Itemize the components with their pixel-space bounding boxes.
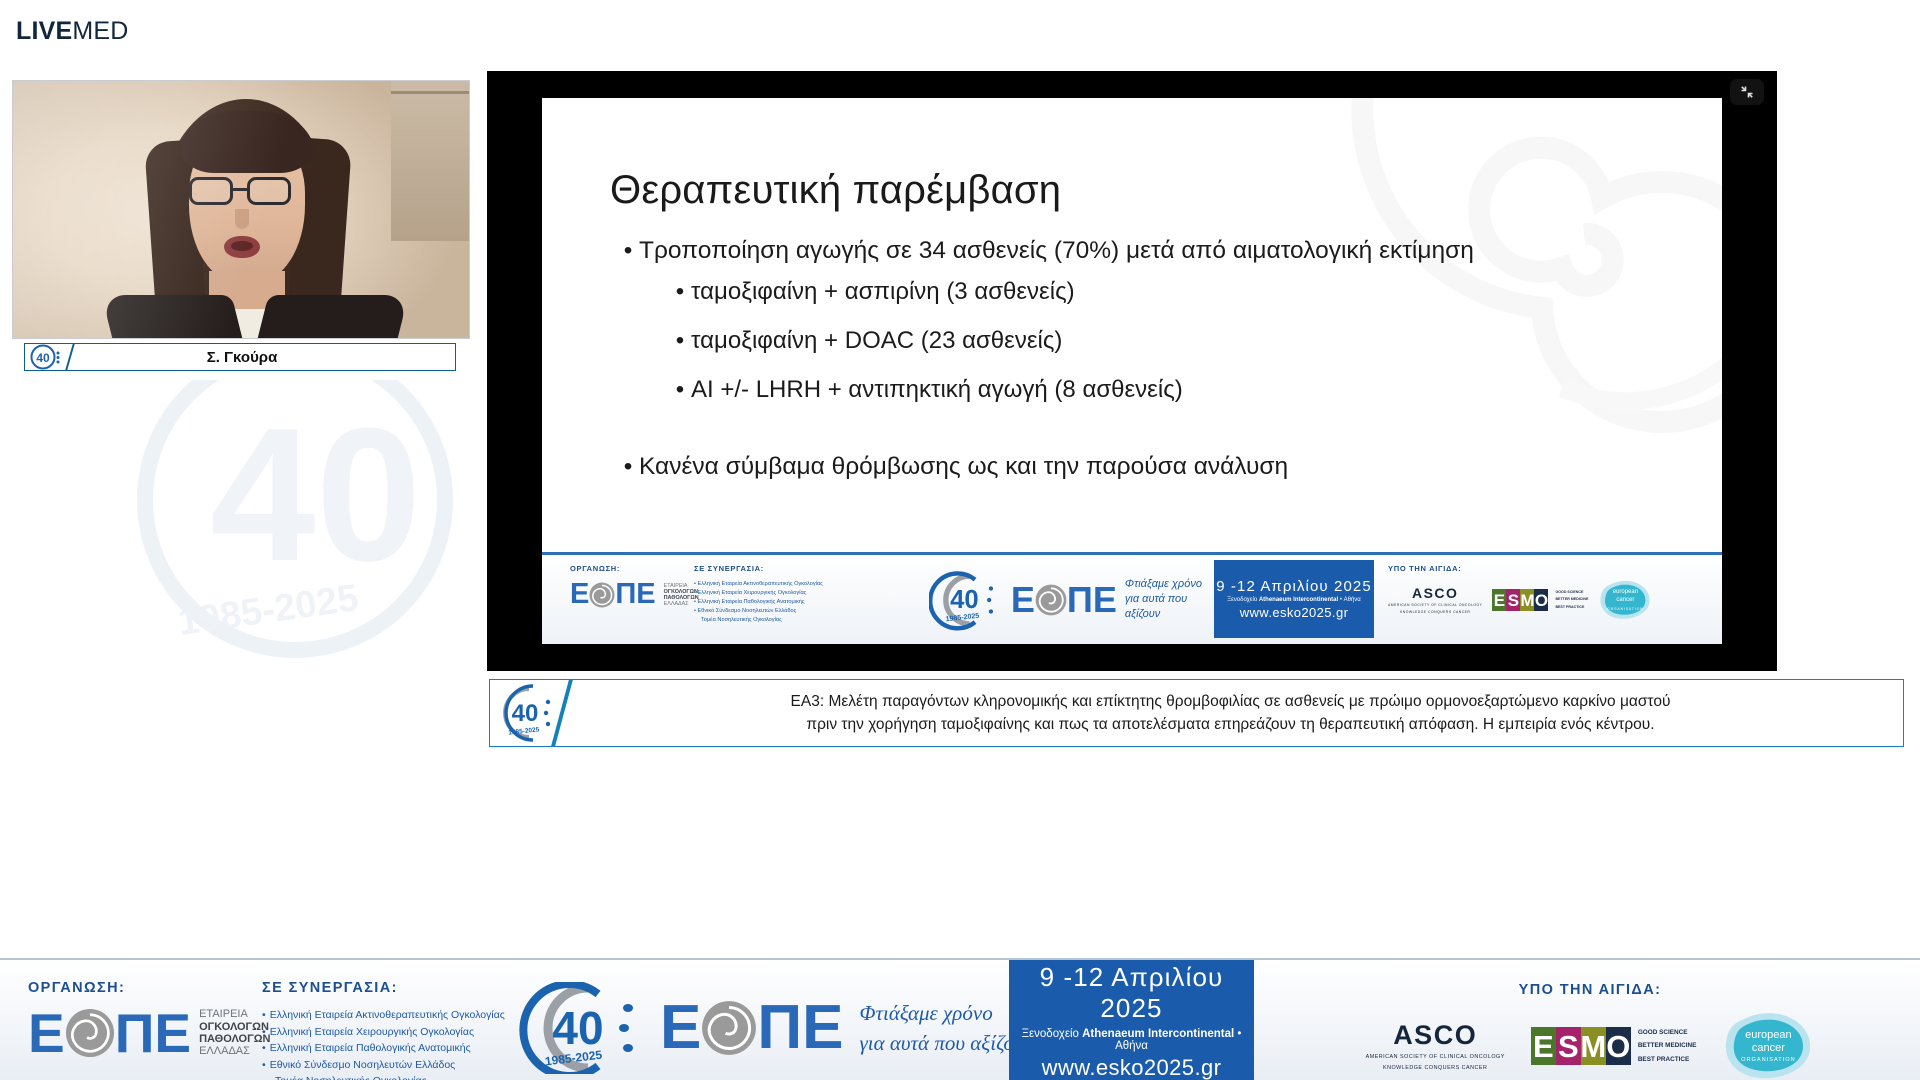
slide-footer-anniversary: 40 1985-2025 E ΠΕ bbox=[929, 555, 1214, 644]
collaborator-item: •Ελληνική Εταιρεία Ακτινοθεραπευτικής Ογ… bbox=[262, 1007, 505, 1024]
auspices-label: ΥΠΟ ΤΗΝ ΑΙΓΙΔΑ: bbox=[1388, 564, 1722, 573]
bullet-text: Κανένα σύμβαμα θρόμβωσης ως και την παρο… bbox=[639, 451, 1288, 483]
ec-line-2: cancer bbox=[1752, 1042, 1785, 1055]
collaboration-label: ΣΕ ΣΥΝΕΡΓΑΣΙΑ: bbox=[262, 980, 505, 996]
session-title-line-1: ΕΑ3: Μελέτη παραγόντων κληρονομικής και … bbox=[588, 690, 1873, 713]
ec-line-3: ORGANISATION bbox=[1607, 607, 1643, 611]
slide-bullet: • Τροποποίηση αγωγής σε 34 ασθενείς (70%… bbox=[564, 235, 1702, 267]
bullet-dot-icon: • bbox=[617, 235, 639, 267]
bottom-sponsor-banner: ΟΡΓΑΝΩΣΗ: E ΠΕ ΕΤΑΙΡΕΙΑ ΟΓΚΟΛΟΓΩΝ ΠΑΘΟΛΟ… bbox=[0, 958, 1920, 1080]
esmo-mark: E S M O bbox=[1492, 589, 1548, 611]
bottom-auspices-block: ΥΠΟ ΤΗΝ ΑΙΓΙΔΑ: ASCO AMERICAN SOCIETY OF… bbox=[1268, 982, 1912, 1080]
collaborator-item: •Ελληνική Εταιρεία Παθολογικής Ανατομική… bbox=[262, 1040, 505, 1057]
collaborator-item: • Ελληνική Εταιρεία Ακτινοθεραπευτικής Ο… bbox=[694, 580, 929, 589]
slide-bullet: • Κανένα σύμβαμα θρόμβωσης ως και την πα… bbox=[564, 451, 1702, 483]
session-title-text: ΕΑ3: Μελέτη παραγόντων κληρονομικής και … bbox=[562, 690, 1903, 737]
eope-word: ΕΛΛΑΔΑΣ bbox=[199, 1045, 270, 1057]
slide-player[interactable]: Θεραπευτική παρέμβαση • Τροποποίηση αγωγ… bbox=[487, 71, 1777, 671]
event-website: www.esko2025.gr bbox=[1214, 605, 1374, 620]
esmo-letter: M bbox=[1581, 1027, 1606, 1065]
collaborator-item: Τομέα Νοσηλευτικής Ογκολογίας bbox=[262, 1073, 505, 1080]
ec-line-1: european bbox=[1745, 1029, 1792, 1042]
eope-spiral-icon bbox=[589, 582, 615, 608]
eope-letters-pe: ΠΕ bbox=[1067, 584, 1117, 616]
eope-letter-e: E bbox=[570, 582, 589, 608]
slide-footer-banner: ΟΡΓΑΝΩΣΗ: E ΠΕ ΕΤΑΙΡΕΙΑ ΟΓΚΟΛΟ bbox=[542, 552, 1722, 644]
bullet-text: ταμοξιφαίνη + DOAC (23 ασθενείς) bbox=[691, 325, 1062, 357]
esmo-letter: S bbox=[1556, 1027, 1581, 1065]
bottom-organisation-block: ΟΡΓΑΝΩΣΗ: E ΠΕ ΕΤΑΙΡΕΙΑ ΟΓΚΟΛΟΓΩΝ ΠΑΘΟΛΟ… bbox=[28, 980, 270, 1058]
livemed-logo: LIVEMED bbox=[16, 17, 129, 46]
slide-bullet-list: • Τροποποίηση αγωγής σε 34 ασθενείς (70%… bbox=[564, 235, 1702, 493]
logo-med-text: MED bbox=[72, 17, 128, 46]
esmo-tagline-2: BETTER MEDICINE bbox=[1638, 1039, 1697, 1052]
collaborator-item: •Εθνικό Σύνδεσμο Νοσηλευτών Ελλάδος bbox=[262, 1057, 505, 1074]
eope-spiral-icon bbox=[701, 1000, 757, 1056]
badge-number-text: 40 bbox=[512, 700, 539, 727]
eope-word: ΠΑΘΟΛΟΓΩΝ bbox=[199, 1033, 270, 1045]
asco-tagline-2: KNOWLEDGE CONQUERS CANCER bbox=[1388, 610, 1482, 615]
esmo-logo: E S M O GOOD SCIENCE BETTER MEDICINE BES… bbox=[1531, 1026, 1697, 1065]
slogan-line-2: για αυτά που αξίζουν bbox=[1125, 592, 1214, 622]
livemed-webcast-page: LIVEMED 40 1985-2025 bbox=[0, 0, 1920, 1080]
ec-line-1: european bbox=[1613, 589, 1638, 596]
esmo-tagline-3: BEST PRACTICE bbox=[1638, 1053, 1697, 1066]
speaker-video[interactable] bbox=[12, 80, 470, 339]
anniversary-number: 40 bbox=[552, 1002, 603, 1054]
eope-logo-bottom: E ΠΕ bbox=[660, 1000, 844, 1056]
collaborator-item: •Ελληνική Εταιρεία Χειρουργικής Ογκολογί… bbox=[262, 1024, 505, 1041]
collaborator-item: Τομέα Νοσηλευτικής Ογκολογίας bbox=[694, 616, 929, 625]
esmo-tagline-1: GOOD SCIENCE bbox=[1555, 589, 1588, 596]
bullet-text: Τροποποίηση αγωγής σε 34 ασθενείς (70%) … bbox=[639, 235, 1474, 267]
european-cancer-logo: european cancer ORGANISATION bbox=[1722, 1010, 1814, 1080]
bottom-anniversary-block: 40 1985-2025 E ΠΕ Φτιάξαμε χρόνο για αυτ… bbox=[502, 982, 1033, 1074]
asco-logo: ASCO AMERICAN SOCIETY OF CLINICAL ONCOLO… bbox=[1388, 585, 1482, 616]
slide-footer-collaboration: ΣΕ ΣΥΝΕΡΓΑΣΙΑ: • Ελληνική Εταιρεία Ακτιν… bbox=[694, 555, 929, 644]
eope-logo-footer: E ΠΕ bbox=[1011, 584, 1117, 616]
eope-letter-e: E bbox=[660, 1001, 701, 1056]
svg-text:1985-2025: 1985-2025 bbox=[175, 577, 361, 644]
bottom-date-box: 9 -12 Απριλίου 2025 Ξενοδοχείο Athenaeum… bbox=[1009, 960, 1254, 1080]
bullet-text: AI +/- LHRH + αντιπηκτική αγωγή (8 ασθεν… bbox=[691, 374, 1183, 406]
bullet-dot-icon: • bbox=[617, 451, 639, 483]
minimize-arrows-icon[interactable] bbox=[1730, 79, 1764, 105]
european-cancer-text: european cancer ORGANISATION bbox=[1598, 579, 1652, 621]
session-title-bar: 40 1985-2025 ΕΑ3: Μελέτη παραγόντων κληρ… bbox=[489, 679, 1904, 747]
slide-bullet: • AI +/- LHRH + αντιπηκτική αγωγή (8 ασθ… bbox=[564, 374, 1702, 406]
asco-name: ASCO bbox=[1366, 1020, 1505, 1051]
eope-spiral-icon bbox=[1035, 584, 1067, 616]
event-website: www.esko2025.gr bbox=[1009, 1055, 1254, 1080]
eope-letter-e: E bbox=[1011, 584, 1035, 616]
collaboration-label: ΣΕ ΣΥΝΕΡΓΑΣΙΑ: bbox=[694, 564, 929, 573]
speaker-name: Σ. Γκούρα bbox=[69, 349, 455, 366]
badge-number-text: 40 bbox=[36, 351, 50, 365]
anniversary-badge-icon: 40 bbox=[25, 344, 69, 370]
esmo-letter: M bbox=[1520, 589, 1534, 611]
eope-logo: E ΠΕ ΕΤΑΙΡΕΙΑ ΟΓΚΟΛΟΓΩΝ ΠΑΘΟΛΟΓΩΝ ΕΛΛΑΔΑ… bbox=[28, 1008, 270, 1058]
eope-word: ΟΓΚΟΛΟΓΩΝ bbox=[199, 1021, 270, 1033]
european-cancer-text: european cancer ORGANISATION bbox=[1722, 1010, 1814, 1080]
anniversary-40-logo-icon: 40 1985-2025 bbox=[502, 982, 672, 1074]
esmo-letter: E bbox=[1492, 589, 1506, 611]
event-dates: 9 -12 Απριλίου 2025 bbox=[1009, 962, 1254, 1024]
bullet-dot-icon: • bbox=[669, 276, 691, 308]
esmo-logo: E S M O GOOD SCIENCE BETTER MEDICINE BES… bbox=[1492, 589, 1588, 611]
european-cancer-logo: european cancer ORGANISATION bbox=[1598, 579, 1652, 621]
slogan-line-1: Φτιάξαμε χρόνο bbox=[1125, 577, 1214, 592]
esmo-letter: O bbox=[1606, 1027, 1631, 1065]
auspices-label: ΥΠΟ ΤΗΝ ΑΙΓΙΔΑ: bbox=[1268, 982, 1912, 998]
asco-name: ASCO bbox=[1388, 585, 1482, 601]
esmo-taglines: GOOD SCIENCE BETTER MEDICINE BEST PRACTI… bbox=[1638, 1026, 1697, 1065]
anniversary-number: 40 bbox=[950, 585, 979, 613]
asco-tagline-2: KNOWLEDGE CONQUERS CANCER bbox=[1366, 1064, 1505, 1073]
eope-letters-pe: ΠΕ bbox=[115, 1009, 191, 1057]
esmo-letter: E bbox=[1531, 1027, 1556, 1065]
logo-live-text: LIVE bbox=[16, 17, 72, 46]
bullet-text: ταμοξιφαίνη + ασπιρίνη (3 ασθενείς) bbox=[691, 276, 1075, 308]
event-dates: 9 -12 Απριλίου 2025 bbox=[1214, 578, 1374, 595]
eope-letters-pe: ΠΕ bbox=[757, 1001, 843, 1056]
esmo-letter: O bbox=[1534, 589, 1548, 611]
eope-mark: E ΠΕ bbox=[570, 582, 656, 608]
eope-letter-e: E bbox=[28, 1009, 65, 1057]
asco-logo: ASCO AMERICAN SOCIETY OF CLINICAL ONCOLO… bbox=[1366, 1020, 1505, 1072]
ec-line-2: cancer bbox=[1616, 597, 1634, 604]
slide-bullet: • ταμοξιφαίνη + ασπιρίνη (3 ασθενείς) bbox=[564, 276, 1702, 308]
asco-tagline-1: AMERICAN SOCIETY OF CLINICAL ONCOLOGY bbox=[1388, 603, 1482, 608]
eope-spiral-icon bbox=[65, 1008, 115, 1058]
background-watermark-40: 40 1985-2025 bbox=[60, 380, 530, 680]
slogan-line-1: Φτιάξαμε χρόνο bbox=[860, 998, 1033, 1028]
eope-letters-pe: ΠΕ bbox=[615, 582, 655, 608]
collaborator-item: • Ελληνική Εταιρεία Παθολογικής Ανατομικ… bbox=[694, 598, 929, 607]
bullet-dot-icon: • bbox=[669, 325, 691, 357]
organisation-label: ΟΡΓΑΝΩΣΗ: bbox=[28, 980, 270, 996]
slogan-line-2: για αυτά που αξίζουν bbox=[860, 1028, 1033, 1058]
esmo-tagline-2: BETTER MEDICINE bbox=[1555, 596, 1588, 603]
anniversary-40-logo-icon: 40 1985-2025 bbox=[929, 569, 1007, 631]
presentation-slide: Θεραπευτική παρέμβαση • Τροποποίηση αγωγ… bbox=[542, 98, 1722, 644]
slide-title: Θεραπευτική παρέμβαση bbox=[610, 168, 1061, 213]
esmo-mark: E S M O bbox=[1531, 1027, 1631, 1065]
slide-footer-auspices: ΥΠΟ ΤΗΝ ΑΙΓΙΔΑ: ASCO AMERICAN SOCIETY OF… bbox=[1374, 555, 1722, 644]
slide-footer-date-box: 9 -12 Απριλίου 2025 Ξενοδοχείο Athenaeum… bbox=[1214, 560, 1374, 638]
session-title-line-2: πριν την χορήγηση ταμοξιφαίνης και πως τ… bbox=[588, 713, 1873, 736]
slide-bullet: • ταμοξιφαίνη + DOAC (23 ασθενείς) bbox=[564, 325, 1702, 357]
video-light-overlay bbox=[13, 81, 469, 338]
esmo-tagline-3: BEST PRACTICE bbox=[1555, 604, 1588, 611]
speaker-video-frame bbox=[13, 81, 469, 338]
event-venue: Ξενοδοχείο Athenaeum Intercontinental • … bbox=[1214, 597, 1374, 603]
slide-footer-slogan: Φτιάξαμε χρόνο για αυτά που αξίζουν bbox=[1125, 577, 1214, 622]
eope-word: ΕΤΑΙΡΕΙΑ bbox=[199, 1008, 270, 1020]
eope-logo: E ΠΕ ΕΤΑΙΡΕΙΑ ΟΓΚΟΛΟΓΩΝ ΠΑΘΟΛΟΓΩΝ ΕΛΛΑΔΑ bbox=[570, 582, 694, 608]
slide-footer-organisation: ΟΡΓΑΝΩΣΗ: E ΠΕ ΕΤΑΙΡΕΙΑ ΟΓΚΟΛΟ bbox=[542, 555, 694, 644]
anniversary-badge-icon: 40 1985-2025 bbox=[490, 680, 562, 746]
event-venue: Ξενοδοχείο Athenaeum Intercontinental • … bbox=[1009, 1028, 1254, 1052]
collaborator-item: • Ελληνική Εταιρεία Χειρουργικής Ογκολογ… bbox=[694, 589, 929, 598]
speaker-name-bar: 40 Σ. Γκούρα bbox=[24, 343, 456, 371]
bottom-slogan: Φτιάξαμε χρόνο για αυτά που αξίζουν bbox=[860, 998, 1033, 1059]
bottom-collaboration-block: ΣΕ ΣΥΝΕΡΓΑΣΙΑ: •Ελληνική Εταιρεία Ακτινο… bbox=[262, 980, 505, 1080]
collaborator-item: • Εθνικό Σύνδεσμο Νοσηλευτών Ελλάδος bbox=[694, 607, 929, 616]
esmo-taglines: GOOD SCIENCE BETTER MEDICINE BEST PRACTI… bbox=[1555, 589, 1588, 611]
ec-line-3: ORGANISATION bbox=[1741, 1057, 1795, 1063]
eope-wordmark: ΕΤΑΙΡΕΙΑ ΟΓΚΟΛΟΓΩΝ ΠΑΘΟΛΟΓΩΝ ΕΛΛΑΔΑΣ bbox=[199, 1008, 270, 1057]
esmo-tagline-1: GOOD SCIENCE bbox=[1638, 1026, 1697, 1039]
organisation-label: ΟΡΓΑΝΩΣΗ: bbox=[570, 564, 694, 573]
svg-text:40: 40 bbox=[210, 389, 421, 601]
asco-tagline-1: AMERICAN SOCIETY OF CLINICAL ONCOLOGY bbox=[1366, 1053, 1505, 1062]
bullet-dot-icon: • bbox=[669, 374, 691, 406]
eope-mark: E ΠΕ bbox=[28, 1008, 191, 1058]
esmo-letter: S bbox=[1506, 589, 1520, 611]
